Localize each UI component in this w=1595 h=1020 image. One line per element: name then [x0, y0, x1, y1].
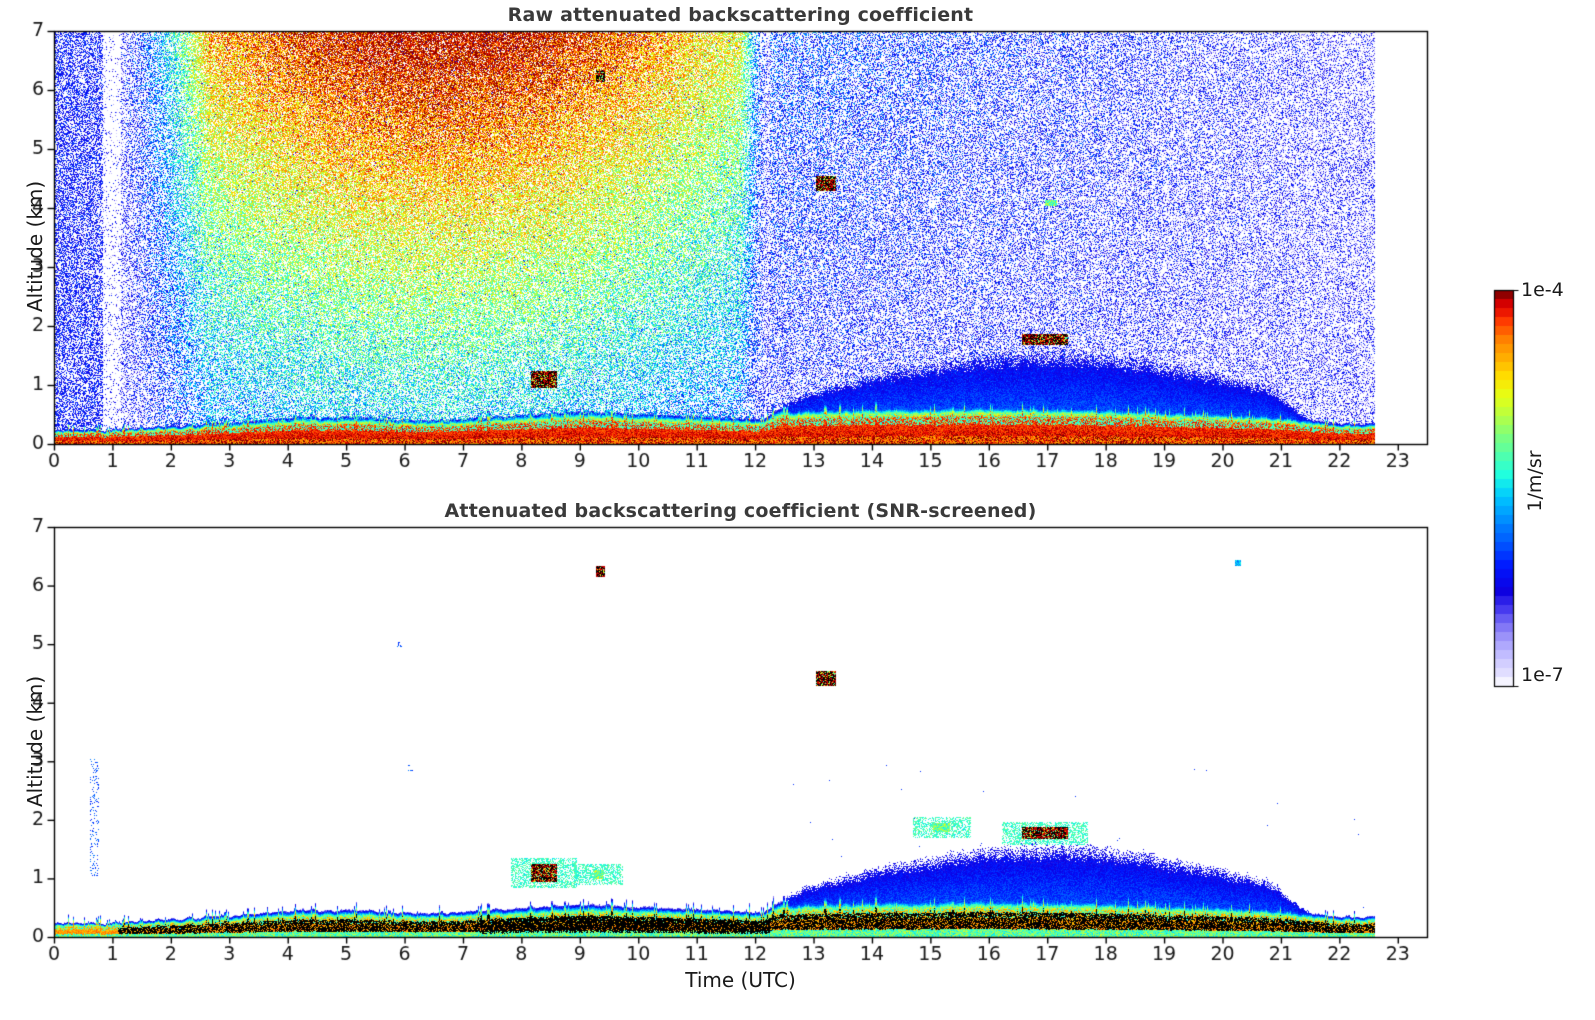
panel-title-screened: Attenuated backscattering coefficient (S…: [54, 500, 1427, 522]
colorbar-unit-label: 1/m/sr: [1524, 416, 1546, 546]
panel-title-raw: Raw attenuated backscattering coefficien…: [54, 4, 1427, 26]
y-axis-label-raw: Altitude (km): [23, 182, 47, 312]
colorbar-tick-high: 1e-4: [1521, 279, 1564, 301]
x-axis-label-time: Time (UTC): [54, 968, 1427, 992]
figure-canvas-root: Raw attenuated backscattering coefficien…: [0, 0, 1595, 1020]
colorbar-tick-low: 1e-7: [1521, 664, 1564, 686]
y-axis-label-screened: Altitude (km): [23, 677, 47, 807]
